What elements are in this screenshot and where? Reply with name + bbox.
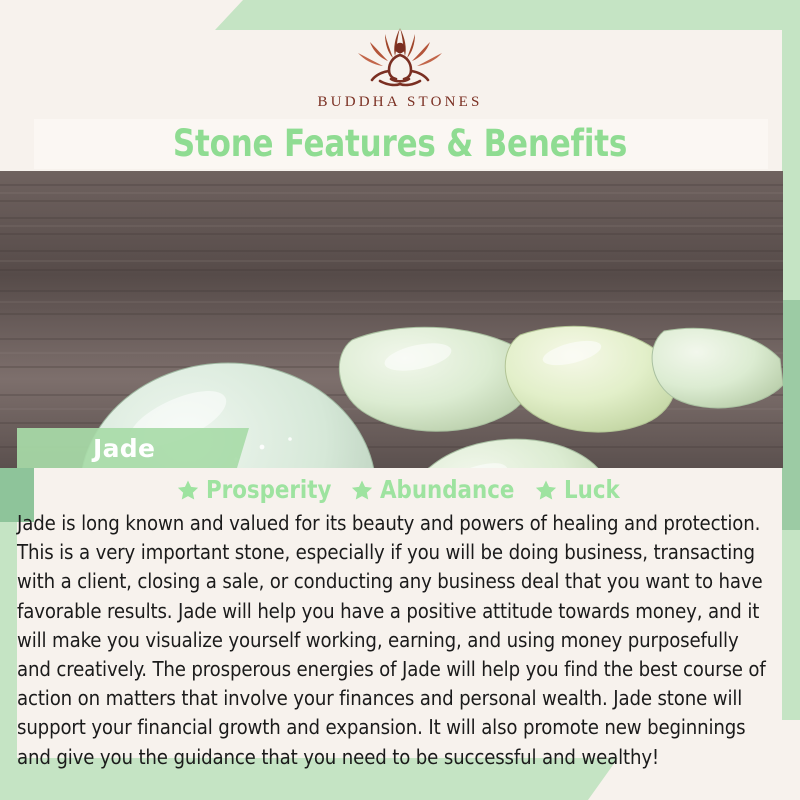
star-icon — [351, 479, 373, 501]
poster-root: BUDDHA STONES Stone Features & Benefits — [0, 0, 800, 800]
keyword-label: Prosperity — [206, 477, 331, 503]
page-title: Stone Features & Benefits — [28, 121, 772, 167]
keyword-abundance: Abundance — [351, 477, 521, 503]
jade-stones-photo — [0, 171, 783, 468]
stone-name-text: Jade — [93, 434, 155, 463]
keyword-label: Luck — [564, 477, 620, 503]
star-icon — [535, 479, 557, 501]
stone-description: Jade is long known and valued for its be… — [17, 509, 773, 772]
lotus-meditation-icon — [325, 22, 475, 92]
stone-name-label: Jade — [17, 428, 249, 468]
brand-name: BUDDHA STONES — [317, 94, 482, 111]
benefit-keywords: Prosperity Abundance Luck — [0, 477, 800, 503]
star-icon — [177, 479, 199, 501]
keyword-prosperity: Prosperity — [177, 477, 338, 503]
keyword-label: Abundance — [380, 477, 514, 503]
keyword-luck: Luck — [535, 477, 623, 503]
brand-logo: BUDDHA STONES — [0, 22, 800, 117]
jade-stones-photo-art — [0, 171, 783, 468]
